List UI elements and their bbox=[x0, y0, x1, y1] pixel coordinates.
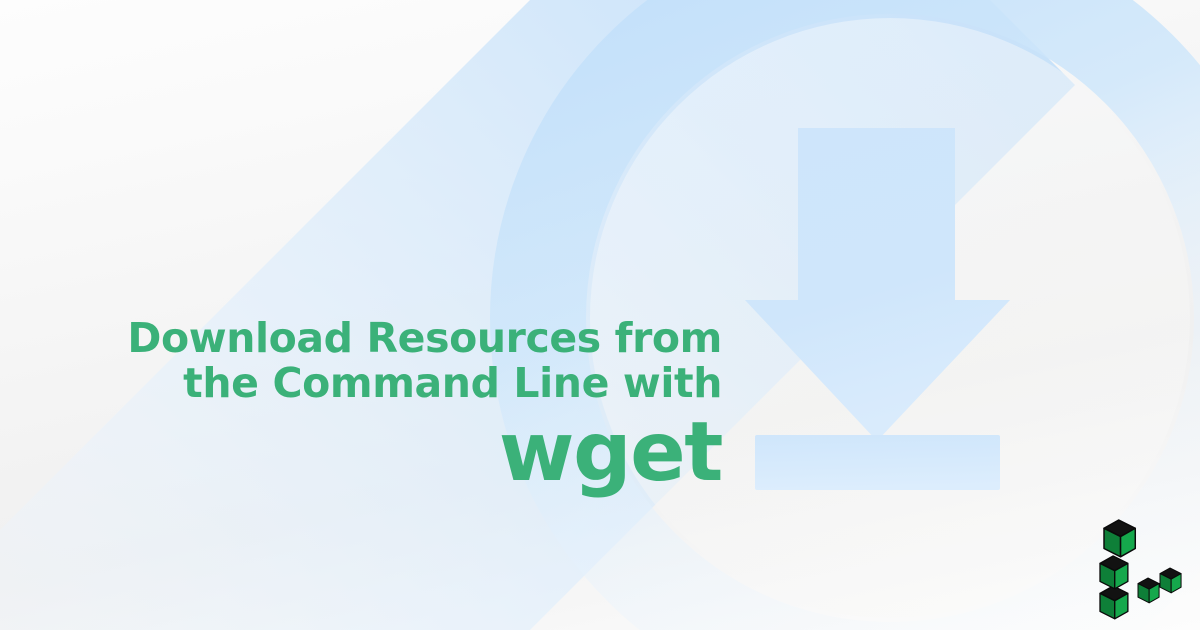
logo-cube-4 bbox=[1138, 578, 1159, 603]
isometric-cubes-logo bbox=[1096, 512, 1200, 630]
logo-cube-3 bbox=[1100, 586, 1128, 619]
headline-line-2: the Command Line with bbox=[0, 361, 722, 405]
headline-line-1: Download Resources from bbox=[0, 316, 722, 360]
download-arrow-icon bbox=[745, 128, 1010, 490]
headline-keyword: wget bbox=[0, 409, 722, 497]
headline-block: Download Resources from the Command Line… bbox=[0, 316, 722, 497]
social-card: Download Resources from the Command Line… bbox=[0, 0, 1200, 630]
logo-cube-2 bbox=[1100, 556, 1128, 589]
logo-cube-1 bbox=[1104, 520, 1135, 557]
logo-cube-5 bbox=[1160, 568, 1181, 593]
